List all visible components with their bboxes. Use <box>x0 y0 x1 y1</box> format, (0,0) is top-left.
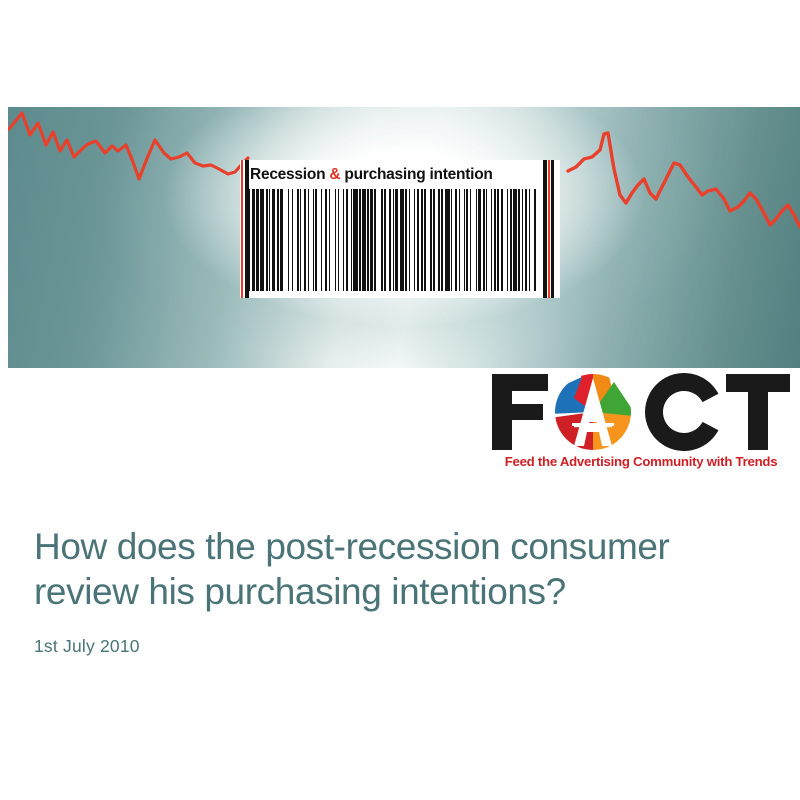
barcode-bar <box>421 189 422 291</box>
title-block: How does the post-recession consumer rev… <box>34 524 754 657</box>
fact-wordmark <box>488 368 794 454</box>
barcode-bar <box>534 189 535 291</box>
barcode-bar <box>451 189 452 291</box>
barcode-graphic: Recession & purchasing intention <box>240 160 560 298</box>
barcode-bar <box>414 189 415 291</box>
barcode-bar <box>466 189 467 291</box>
barcode-bar <box>325 189 326 291</box>
barcode-right-guard-bar-2 <box>551 160 554 298</box>
fact-logo: Feed the Advertising Community with Tren… <box>488 368 794 480</box>
barcode-title-ampersand: & <box>329 166 340 183</box>
barcode-bar <box>409 189 410 291</box>
barcode-bar <box>338 189 339 291</box>
barcode-bar <box>529 189 530 291</box>
barcode-bar <box>367 189 368 291</box>
barcode-bar <box>252 189 256 291</box>
barcode-bar <box>417 189 418 291</box>
barcode-bar <box>470 189 471 291</box>
barcode-bar <box>494 189 495 291</box>
barcode-left-guard-bar <box>245 160 249 298</box>
barcode-bar <box>321 189 322 291</box>
barcode-bar <box>335 189 336 291</box>
barcode-bar <box>389 189 390 291</box>
barcode-bar <box>395 189 398 291</box>
barcode-left-red-edge <box>241 160 243 298</box>
barcode-bar <box>362 189 366 291</box>
barcode-bar <box>329 189 330 291</box>
barcode-bar <box>292 189 293 291</box>
slide-date: 1st July 2010 <box>34 636 754 657</box>
presentation-slide: Recession & purchasing intention <box>0 0 800 800</box>
barcode-bar <box>272 189 276 291</box>
barcode-bar <box>359 189 361 291</box>
barcode-bar <box>507 189 508 291</box>
barcode-bar <box>304 189 305 291</box>
barcode-bar <box>478 189 481 291</box>
barcode-bars <box>248 189 552 291</box>
barcode-bar <box>400 189 404 291</box>
barcode-bar <box>445 189 450 291</box>
barcode-bar <box>455 189 456 291</box>
barcode-bar <box>464 189 465 291</box>
barcode-bar <box>459 189 460 291</box>
barcode-bar <box>297 189 298 291</box>
barcode-bar <box>393 189 394 291</box>
barcode-bar <box>277 189 279 291</box>
logo-letter-f <box>492 374 548 450</box>
barcode-bar <box>381 189 382 291</box>
barcode-bar <box>343 189 344 291</box>
slide-title: How does the post-recession consumer rev… <box>34 524 754 614</box>
barcode-bar <box>491 189 492 291</box>
logo-letter-c <box>645 373 718 451</box>
barcode-bar <box>510 189 512 291</box>
barcode-bar <box>300 189 301 291</box>
trend-line-left-segment <box>9 113 248 179</box>
barcode-title-prefix: Recession <box>250 166 329 183</box>
barcode-bar <box>280 189 283 291</box>
fact-tagline: Feed the Advertising Community with Tren… <box>491 454 791 469</box>
barcode-bar <box>501 189 502 291</box>
barcode-bar <box>438 189 439 291</box>
logo-letter-t <box>726 374 790 450</box>
logo-letter-a-colorwheel <box>550 370 634 454</box>
barcode-bar <box>346 189 347 291</box>
barcode-title-suffix: purchasing intention <box>340 166 492 183</box>
barcode-right-guard-bar <box>543 160 547 298</box>
barcode-bar <box>384 189 385 291</box>
barcode-bar <box>518 189 519 291</box>
barcode-bar <box>405 189 407 291</box>
barcode-bar <box>374 189 376 291</box>
trend-line-right-segment <box>568 133 800 227</box>
barcode-bar <box>266 189 268 291</box>
barcode-bar <box>308 189 309 291</box>
barcode-bar <box>370 189 373 291</box>
barcode-bar <box>486 189 487 291</box>
barcode-bar <box>430 189 432 291</box>
barcode-bar <box>441 189 443 291</box>
barcode-bar <box>351 189 352 291</box>
barcode-bar <box>433 189 434 291</box>
barcode-bar <box>476 189 477 291</box>
barcode-bar <box>522 189 523 291</box>
barcode-bar <box>288 189 289 291</box>
barcode-bar <box>424 189 425 291</box>
barcode-bar <box>256 189 258 291</box>
barcode-bar <box>497 189 498 291</box>
barcode-bar <box>315 189 316 291</box>
barcode-bar <box>260 189 264 291</box>
barcode-right-red-edge <box>548 160 550 298</box>
barcode-bar <box>483 189 485 291</box>
logo-letter-c-shape <box>645 373 718 451</box>
barcode-bar <box>269 189 270 291</box>
barcode-bar <box>353 189 357 291</box>
barcode-bar <box>525 189 528 291</box>
barcode-bar <box>313 189 314 291</box>
barcode-title-text: Recession & purchasing intention <box>250 162 550 188</box>
barcode-bar <box>513 189 517 291</box>
